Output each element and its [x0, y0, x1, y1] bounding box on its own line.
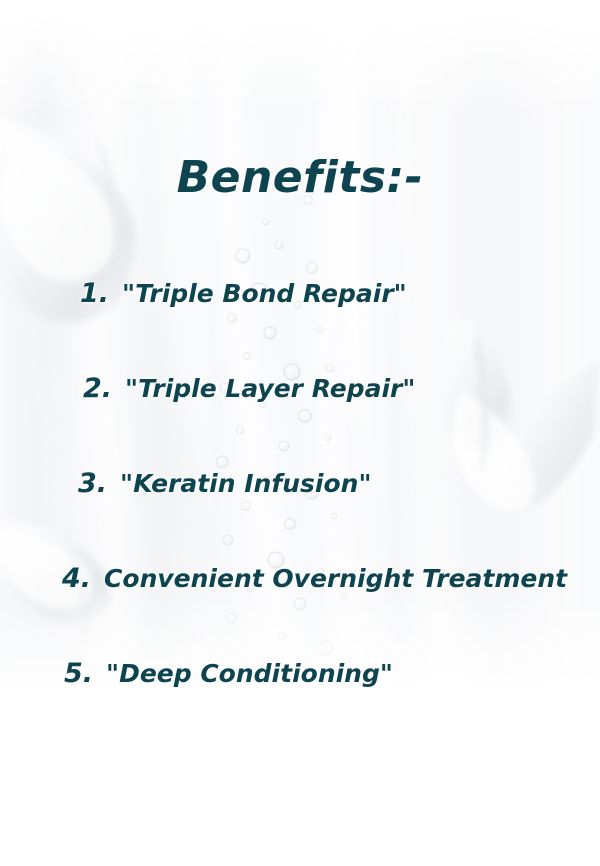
benefits-list: 1. "Triple Bond Repair" 2. "Triple Layer… [0, 246, 600, 721]
benefit-number-3: 3. [78, 468, 107, 499]
benefit-number-4: 4. [62, 563, 91, 594]
benefit-item-4: 4. Convenient Overnight Treatment [0, 531, 600, 626]
benefit-item-1: 1. "Triple Bond Repair" [0, 246, 600, 341]
benefits-poster: Benefits:- 1. "Triple Bond Repair" 2. "T… [0, 0, 600, 866]
benefit-text-5: "Deep Conditioning" [106, 659, 393, 688]
poster-content: Benefits:- 1. "Triple Bond Repair" 2. "T… [0, 0, 600, 866]
benefit-item-5: 5. "Deep Conditioning" [0, 626, 600, 721]
benefit-item-2: 2. "Triple Layer Repair" [0, 341, 600, 436]
benefit-number-1: 1. [80, 278, 109, 309]
benefit-number-5: 5. [64, 658, 93, 689]
benefit-text-1: "Triple Bond Repair" [122, 279, 407, 308]
benefit-item-3: 3. "Keratin Infusion" [0, 436, 600, 531]
page-title: Benefits:- [0, 152, 600, 203]
benefit-text-3: "Keratin Infusion" [120, 469, 371, 498]
benefit-text-4: Convenient Overnight Treatment [104, 564, 567, 593]
benefit-number-2: 2. [83, 373, 112, 404]
benefit-text-2: "Triple Layer Repair" [125, 374, 415, 403]
